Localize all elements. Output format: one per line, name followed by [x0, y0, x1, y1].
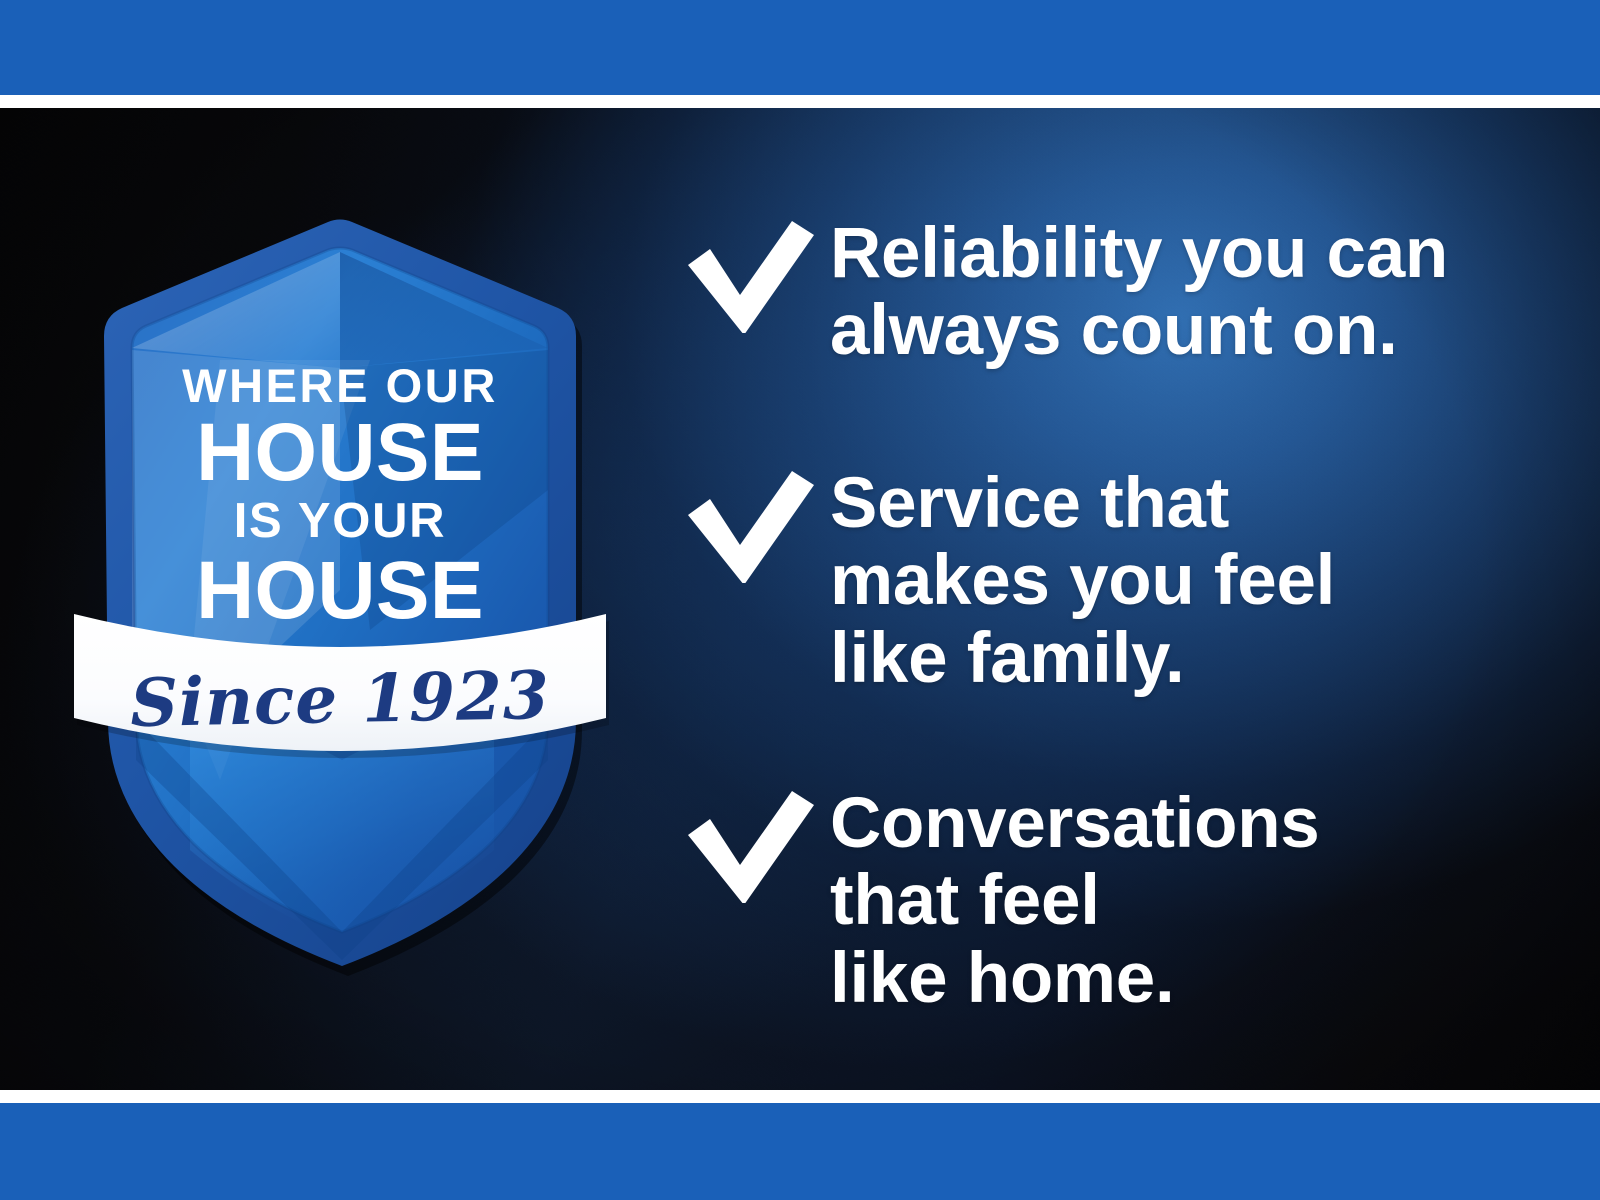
- top-brand-bar: [0, 0, 1600, 95]
- benefits-list: Reliability you can always count on. Ser…: [668, 108, 1548, 1090]
- list-item-label: Conversations that feel like home.: [830, 783, 1548, 1017]
- promo-graphic: WHERE OUR HOUSE IS YOUR HOUSE Since 1923…: [0, 0, 1600, 1200]
- shield-badge: WHERE OUR HOUSE IS YOUR HOUSE Since 1923: [70, 160, 610, 950]
- list-item: Reliability you can always count on.: [668, 213, 1548, 370]
- list-item-label: Service that makes you feel like family.: [830, 463, 1548, 697]
- bottom-white-divider: [0, 1090, 1600, 1103]
- list-item-label: Reliability you can always count on.: [830, 213, 1548, 370]
- list-item: Service that makes you feel like family.: [668, 463, 1548, 697]
- bottom-brand-bar: [0, 1103, 1600, 1200]
- checkmark-icon: [668, 783, 818, 903]
- badge-since-text: Since 1923: [69, 655, 610, 743]
- top-white-divider: [0, 95, 1600, 108]
- checkmark-icon: [668, 213, 818, 333]
- checkmark-icon: [668, 463, 818, 583]
- list-item: Conversations that feel like home.: [668, 783, 1548, 1017]
